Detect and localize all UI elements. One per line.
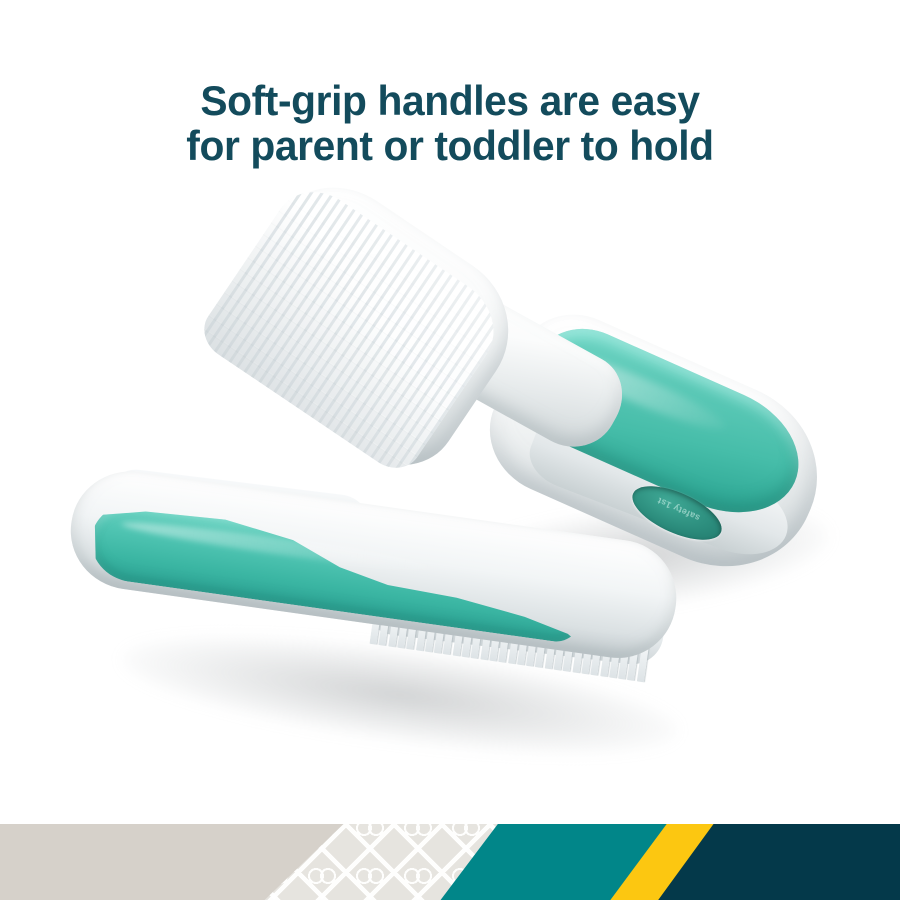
product-photo: safety 1st [0, 190, 900, 790]
page-title: Soft-grip handles are easy for parent or… [14, 78, 887, 169]
page-title-line-1: Soft-grip handles are easy [14, 78, 887, 123]
screenshot-canvas: Soft-grip handles are easy for parent or… [0, 0, 900, 900]
bottom-brand-banner [0, 824, 900, 900]
page-title-line-2: for parent or toddler to hold [14, 123, 887, 168]
